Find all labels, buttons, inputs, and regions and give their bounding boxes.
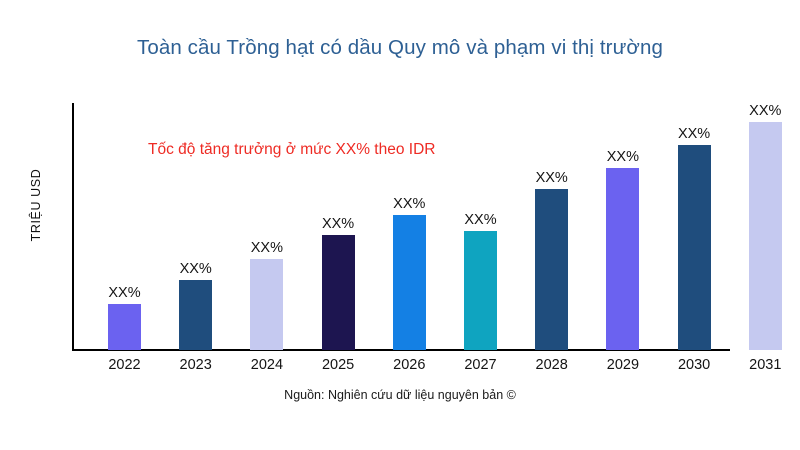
x-axis-tick-label: 2029 [593,357,653,373]
bar-value-label: XX% [607,149,639,165]
x-axis-tick-label: 2023 [166,357,226,373]
x-axis-tick-label: 2030 [664,357,724,373]
bar-value-label: XX% [536,170,568,186]
bar-value-label: XX% [108,285,140,301]
bar-value-label: XX% [180,261,212,277]
chart-container: Toàn cầu Trồng hạt có dầu Quy mô và phạm… [0,0,800,450]
bar-value-label: XX% [251,240,283,256]
bar[interactable] [250,259,283,350]
bar-value-label: XX% [678,126,710,142]
bar-value-label: XX% [322,216,354,232]
x-axis-tick-label: 2031 [735,357,795,373]
bar[interactable] [393,215,426,350]
x-axis-tick-label: 2028 [522,357,582,373]
bar-group: XX% [322,205,355,350]
x-axis-tick-label: 2022 [95,357,155,373]
bar-group: XX% [464,201,497,350]
bar[interactable] [322,235,355,350]
bar[interactable] [535,189,568,350]
bar-group: XX% [179,250,212,350]
bar-group: XX% [393,185,426,350]
x-axis-tick-label: 2026 [379,357,439,373]
bar-group: XX% [678,115,711,350]
bar[interactable] [678,145,711,350]
bar[interactable] [108,304,141,350]
bar-value-label: XX% [464,212,496,228]
plot-area: XX%2022XX%2023XX%2024XX%2025XX%2026XX%20… [0,0,800,450]
x-axis-tick-label: 2025 [308,357,368,373]
bar-group: XX% [108,274,141,350]
source-note: Nguồn: Nghiên cứu dữ liệu nguyên bản © [0,388,800,402]
bar[interactable] [464,231,497,350]
x-axis-tick-label: 2027 [451,357,511,373]
bar-group: XX% [749,92,782,350]
bar[interactable] [606,168,639,350]
bar-group: XX% [606,138,639,350]
bar-value-label: XX% [749,103,781,119]
bar-value-label: XX% [393,196,425,212]
bar[interactable] [179,280,212,350]
bar[interactable] [749,122,782,350]
bar-group: XX% [250,229,283,350]
x-axis-tick-label: 2024 [237,357,297,373]
bar-group: XX% [535,159,568,350]
